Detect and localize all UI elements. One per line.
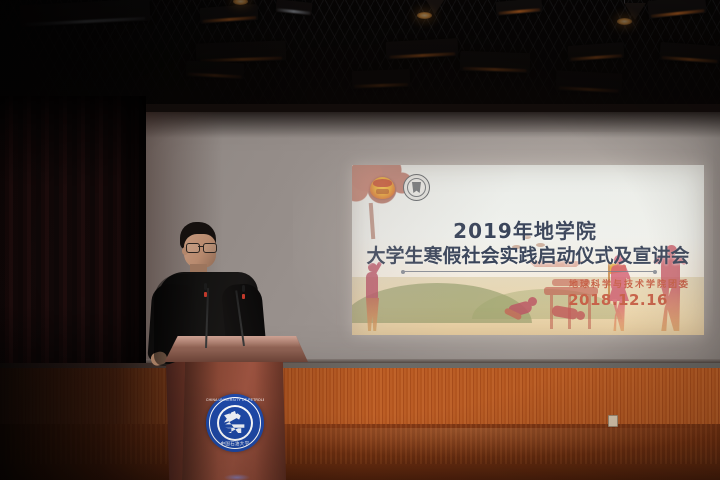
lectern-desktop-highlight xyxy=(160,336,308,347)
microphone-indicator-band xyxy=(242,294,245,299)
slide-date-text: 2018.12.16 xyxy=(568,291,668,309)
slide-silhouette-figure xyxy=(502,291,542,331)
lectern: CHINA UNIVERSITY OF PETROLEUM 1953 中国石油大… xyxy=(160,336,308,480)
glasses-lens-right xyxy=(203,243,217,253)
slide-title-line2: 大学生寒假社会实践启动仪式及宣讲会 xyxy=(352,241,704,268)
emblem-founding-year: 1953 xyxy=(206,435,264,439)
slide-logo-group xyxy=(370,174,430,201)
slide-silhouette-figure xyxy=(360,259,386,331)
slide-title-line1: 2019年地学院 xyxy=(352,215,698,244)
presenter-glasses xyxy=(186,243,216,251)
microphone-indicator-band xyxy=(204,292,207,297)
projected-slide: 2019年地学院 大学生寒假社会实践启动仪式及宣讲会 地球科学与技术学院团委 2… xyxy=(352,165,704,335)
glasses-lens-left xyxy=(186,243,200,253)
microphone-capsule xyxy=(204,283,207,290)
floor-shadow xyxy=(0,424,720,480)
university-seal-logo-icon xyxy=(403,174,430,201)
auditorium-scene: 2019年地学院 大学生寒假社会实践启动仪式及宣讲会 地球科学与技术学院团委 2… xyxy=(0,0,720,480)
microphone-capsule xyxy=(242,285,245,292)
communist-youth-league-emblem-icon xyxy=(370,177,395,199)
stage-curtain-shadow xyxy=(0,96,146,396)
lectern-indicator-glow xyxy=(224,474,250,480)
slide-divider-rule xyxy=(404,271,654,272)
emblem-chinese-text: 中国石油大学 xyxy=(206,441,264,447)
emblem-english-text: CHINA UNIVERSITY OF PETROLEUM xyxy=(206,398,264,402)
slide-organizer-text: 地球科学与技术学院团委 xyxy=(569,277,690,290)
figure-legs xyxy=(366,298,379,331)
figure-torso xyxy=(366,272,378,300)
wall-outlet xyxy=(608,415,618,427)
university-emblem: CHINA UNIVERSITY OF PETROLEUM 1953 中国石油大… xyxy=(206,394,264,452)
